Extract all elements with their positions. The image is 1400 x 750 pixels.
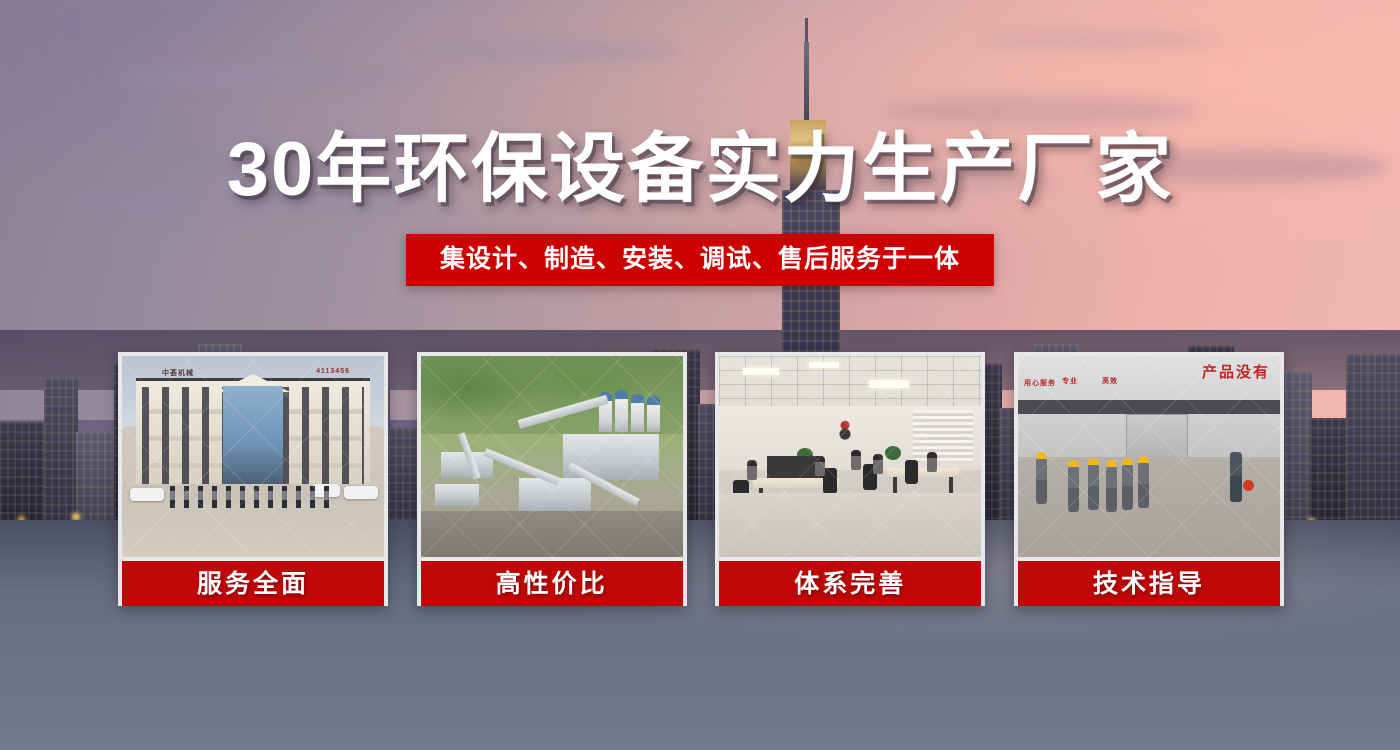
- card-caption: 技术指导: [1018, 561, 1280, 606]
- subtitle-text: 集设计、制造、安装、调试、售后服务于一体: [440, 243, 960, 275]
- card-photo-industrial-plant: [421, 356, 683, 557]
- promo-banner: 30年环保设备实力生产厂家 集设计、制造、安装、调试、售后服务于一体 中荟机械 …: [0, 0, 1400, 750]
- card-photo-office: [719, 356, 981, 557]
- card-caption: 高性价比: [421, 561, 683, 606]
- feature-card[interactable]: 高性价比: [417, 352, 687, 606]
- feature-card-row: 中荟机械 4113456 服务全面: [118, 352, 1284, 606]
- card-caption-text: 技术指导: [1093, 564, 1205, 600]
- photo-sign-factory-main: 产品没有: [1202, 361, 1270, 382]
- subtitle-banner: 集设计、制造、安装、调试、售后服务于一体: [406, 234, 994, 286]
- feature-card: 体系完善: [715, 352, 985, 606]
- card-caption-text: 高性价比: [496, 564, 608, 600]
- card-photo-headquarters: 中荟机械 4113456: [122, 356, 384, 557]
- photo-sign-phone: 4113456: [316, 368, 350, 375]
- photo-sign-factory-3: 高效: [1102, 376, 1118, 386]
- photo-sign-factory-1: 用心服务: [1024, 378, 1056, 388]
- card-caption: 体系完善: [719, 561, 981, 606]
- photo-sign-company: 中荟机械: [162, 368, 194, 378]
- page-title: 30年环保设备实力生产厂家: [0, 128, 1400, 212]
- feature-card[interactable]: 产品没有 用心服务 专业 高效 技术指导: [1014, 352, 1284, 606]
- card-photo-workers: 产品没有 用心服务 专业 高效: [1018, 356, 1280, 557]
- card-caption-text: 服务全面: [197, 564, 309, 600]
- feature-card[interactable]: 中荟机械 4113456 服务全面: [118, 352, 388, 606]
- photo-sign-factory-2: 专业: [1062, 376, 1078, 386]
- card-caption: 服务全面: [122, 561, 384, 606]
- card-caption-text: 体系完善: [794, 564, 906, 600]
